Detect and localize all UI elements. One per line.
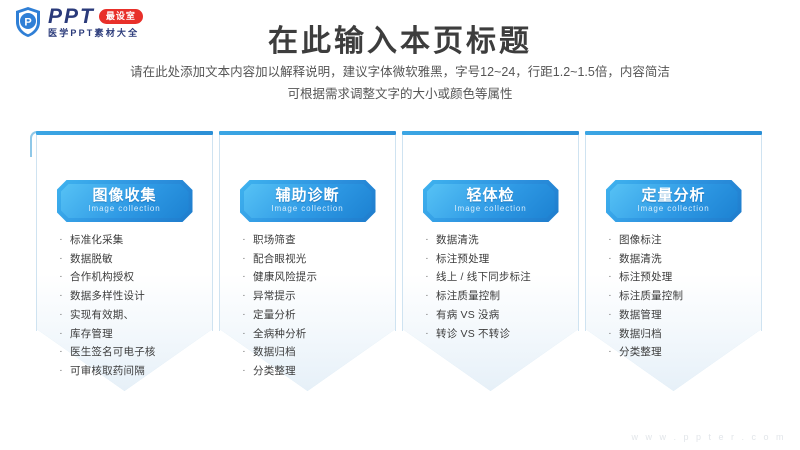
- card-side-line-right: [395, 135, 396, 331]
- list-item-label: 职场筛查: [253, 233, 384, 248]
- list-item: ·线上 / 线下同步标注: [424, 270, 567, 285]
- card-title: 轻体检: [466, 188, 514, 205]
- list-item-label: 标注预处理: [436, 252, 567, 267]
- card-header-badge[interactable]: 辅助诊断 Image collection: [240, 180, 376, 222]
- card-header-badge[interactable]: 轻体检 Image collection: [423, 180, 559, 222]
- list-item-label: 转诊 VS 不转诊: [436, 327, 567, 342]
- bullet-dot-icon: ·: [58, 289, 64, 304]
- card-top-accent-bar: [585, 131, 762, 135]
- badge-text: 轻体检 Image collection: [423, 180, 559, 222]
- card-quantitative-analysis[interactable]: 定量分析 Image collection ·图像标注 ·数据清洗 ·标注预处理…: [585, 131, 762, 391]
- bullet-dot-icon: ·: [424, 270, 430, 285]
- list-item: ·健康风险提示: [241, 270, 384, 285]
- card-title: 辅助诊断: [275, 188, 339, 205]
- list-item-label: 定量分析: [253, 308, 384, 323]
- bullet-dot-icon: ·: [241, 270, 247, 285]
- list-item: ·标准化采集: [58, 233, 201, 248]
- list-item-label: 图像标注: [619, 233, 750, 248]
- bullet-dot-icon: ·: [58, 308, 64, 323]
- list-item: ·有病 VS 没病: [424, 308, 567, 323]
- list-item: ·数据清洗: [424, 233, 567, 248]
- bullet-dot-icon: ·: [58, 233, 64, 248]
- list-item-label: 数据脱敏: [70, 252, 201, 267]
- list-item: ·图像标注: [607, 233, 750, 248]
- list-item: ·数据清洗: [607, 252, 750, 267]
- bullet-dot-icon: ·: [58, 252, 64, 267]
- card-bullet-list: ·标准化采集 ·数据脱敏 ·合作机构授权 ·数据多样性设计 ·实现有效期、 ·库…: [58, 233, 201, 383]
- bullet-dot-icon: ·: [241, 233, 247, 248]
- list-item-label: 数据归档: [253, 345, 384, 360]
- list-item: ·数据归档: [241, 345, 384, 360]
- list-item-label: 有病 VS 没病: [436, 308, 567, 323]
- list-item: ·数据多样性设计: [58, 289, 201, 304]
- bullet-dot-icon: ·: [241, 364, 247, 379]
- list-item-label: 异常提示: [253, 289, 384, 304]
- card-header-badge[interactable]: 图像收集 Image collection: [57, 180, 193, 222]
- card-bullet-list: ·图像标注 ·数据清洗 ·标注预处理 ·标注质量控制 ·数据管理 ·数据归档 ·…: [607, 233, 750, 364]
- bullet-dot-icon: ·: [607, 308, 613, 323]
- card-subtitle: Image collection: [88, 205, 160, 214]
- card-bullet-list: ·职场筛查 ·配合眼视光 ·健康风险提示 ·异常提示 ·定量分析 ·全病种分析 …: [241, 233, 384, 383]
- card-title: 图像收集: [92, 188, 156, 205]
- list-item-label: 合作机构授权: [70, 270, 201, 285]
- card-image-collection[interactable]: 图像收集 Image collection ·标准化采集 ·数据脱敏 ·合作机构…: [36, 131, 213, 391]
- list-item: ·可审核取药间隔: [58, 364, 201, 379]
- badge-text: 定量分析 Image collection: [606, 180, 742, 222]
- card-side-line-left: [219, 135, 220, 331]
- bullet-dot-icon: ·: [607, 233, 613, 248]
- list-item: ·数据管理: [607, 308, 750, 323]
- bullet-dot-icon: ·: [607, 252, 613, 267]
- footer-watermark: w w w . p p t e r . c o m: [631, 432, 786, 442]
- card-top-accent-bar: [36, 131, 213, 135]
- bullet-dot-icon: ·: [424, 233, 430, 248]
- list-item-label: 健康风险提示: [253, 270, 384, 285]
- list-item-label: 线上 / 线下同步标注: [436, 270, 567, 285]
- bullet-dot-icon: ·: [424, 289, 430, 304]
- page-title: 在此输入本页标题: [0, 16, 800, 60]
- list-item: ·标注预处理: [607, 270, 750, 285]
- bullet-dot-icon: ·: [58, 364, 64, 379]
- list-item-label: 配合眼视光: [253, 252, 384, 267]
- list-item-label: 数据归档: [619, 327, 750, 342]
- list-item: ·数据脱敏: [58, 252, 201, 267]
- list-item: ·异常提示: [241, 289, 384, 304]
- bullet-dot-icon: ·: [58, 345, 64, 360]
- card-bullet-list: ·数据清洗 ·标注预处理 ·线上 / 线下同步标注 ·标注质量控制 ·有病 VS…: [424, 233, 567, 345]
- card-light-checkup[interactable]: 轻体检 Image collection ·数据清洗 ·标注预处理 ·线上 / …: [402, 131, 579, 391]
- list-item-label: 实现有效期、: [70, 308, 201, 323]
- card-side-line-right: [212, 135, 213, 331]
- list-item: ·库存管理: [58, 327, 201, 342]
- bullet-dot-icon: ·: [241, 308, 247, 323]
- page-subtitle: 请在此处添加文本内容加以解释说明，建议字体微软雅黑，字号12~24，行距1.2~…: [0, 62, 800, 106]
- bullet-dot-icon: ·: [241, 327, 247, 342]
- list-item-label: 标准化采集: [70, 233, 201, 248]
- list-item-label: 数据清洗: [436, 233, 567, 248]
- list-item-label: 分类整理: [253, 364, 384, 379]
- card-assisted-diagnosis[interactable]: 辅助诊断 Image collection ·职场筛查 ·配合眼视光 ·健康风险…: [219, 131, 396, 391]
- card-title: 定量分析: [641, 188, 705, 205]
- list-item-label: 分类整理: [619, 345, 750, 360]
- page-subtitle-line-1: 请在此处添加文本内容加以解释说明，建议字体微软雅黑，字号12~24，行距1.2~…: [0, 62, 800, 84]
- bullet-dot-icon: ·: [58, 270, 64, 285]
- list-item-label: 数据多样性设计: [70, 289, 201, 304]
- list-item: ·合作机构授权: [58, 270, 201, 285]
- card-row: 图像收集 Image collection ·标准化采集 ·数据脱敏 ·合作机构…: [36, 131, 768, 391]
- card-side-line-left: [585, 135, 586, 331]
- bullet-dot-icon: ·: [241, 345, 247, 360]
- list-item: ·定量分析: [241, 308, 384, 323]
- card-side-line-left: [36, 135, 37, 331]
- card-header-badge[interactable]: 定量分析 Image collection: [606, 180, 742, 222]
- list-item-label: 可审核取药间隔: [70, 364, 201, 379]
- bullet-dot-icon: ·: [58, 327, 64, 342]
- bullet-dot-icon: ·: [607, 289, 613, 304]
- card-subtitle: Image collection: [637, 205, 709, 214]
- list-item: ·标注质量控制: [607, 289, 750, 304]
- card-subtitle: Image collection: [271, 205, 343, 214]
- list-item: ·全病种分析: [241, 327, 384, 342]
- bullet-dot-icon: ·: [424, 308, 430, 323]
- list-item-label: 全病种分析: [253, 327, 384, 342]
- page-subtitle-line-2: 可根据需求调整文字的大小或颜色等属性: [0, 84, 800, 106]
- list-item: ·分类整理: [607, 345, 750, 360]
- list-item: ·标注质量控制: [424, 289, 567, 304]
- list-item: ·职场筛查: [241, 233, 384, 248]
- card-side-line-right: [761, 135, 762, 331]
- badge-text: 图像收集 Image collection: [57, 180, 193, 222]
- list-item: ·医生签名可电子核: [58, 345, 201, 360]
- list-item: ·分类整理: [241, 364, 384, 379]
- card-top-accent-bar: [219, 131, 396, 135]
- bullet-dot-icon: ·: [607, 345, 613, 360]
- list-item: ·实现有效期、: [58, 308, 201, 323]
- badge-text: 辅助诊断 Image collection: [240, 180, 376, 222]
- card-top-accent-bar: [402, 131, 579, 135]
- card-subtitle: Image collection: [454, 205, 526, 214]
- list-item-label: 数据管理: [619, 308, 750, 323]
- list-item-label: 数据清洗: [619, 252, 750, 267]
- list-item-label: 医生签名可电子核: [70, 345, 201, 360]
- card-side-line-right: [578, 135, 579, 331]
- list-item-label: 库存管理: [70, 327, 201, 342]
- list-item-label: 标注预处理: [619, 270, 750, 285]
- card-side-line-left: [402, 135, 403, 331]
- list-item: ·标注预处理: [424, 252, 567, 267]
- bullet-dot-icon: ·: [424, 252, 430, 267]
- list-item-label: 标注质量控制: [619, 289, 750, 304]
- list-item: ·转诊 VS 不转诊: [424, 327, 567, 342]
- bullet-dot-icon: ·: [607, 270, 613, 285]
- list-item: ·配合眼视光: [241, 252, 384, 267]
- list-item-label: 标注质量控制: [436, 289, 567, 304]
- bullet-dot-icon: ·: [607, 327, 613, 342]
- bullet-dot-icon: ·: [241, 252, 247, 267]
- bullet-dot-icon: ·: [424, 327, 430, 342]
- bullet-dot-icon: ·: [241, 289, 247, 304]
- list-item: ·数据归档: [607, 327, 750, 342]
